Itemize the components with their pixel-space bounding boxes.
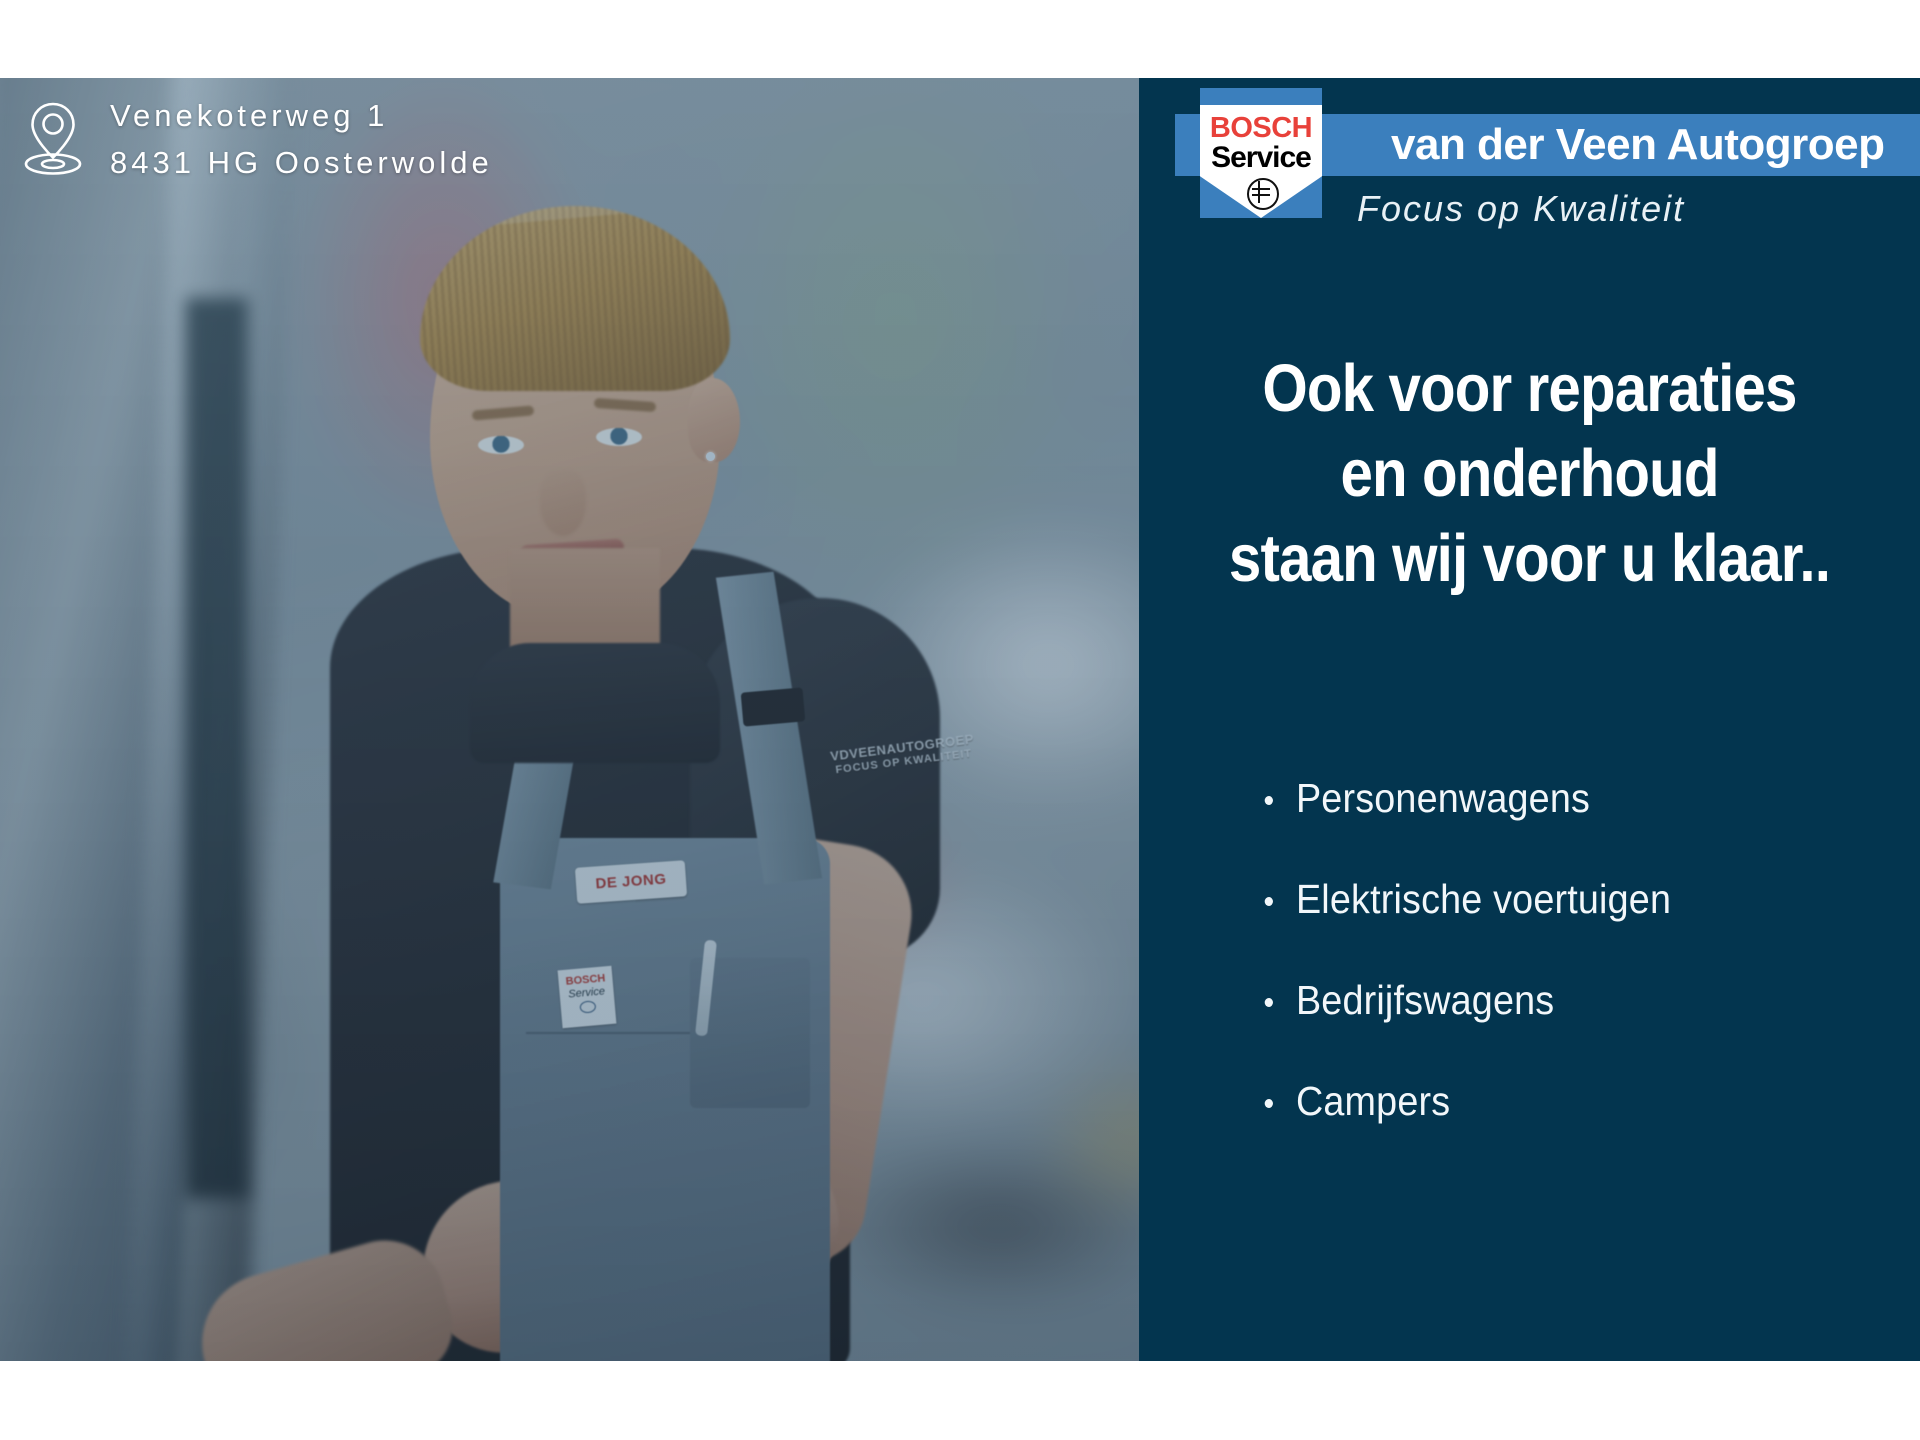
list-item: Bedrijfswagens xyxy=(1261,980,1868,1021)
headline-line-2: en onderhoud xyxy=(1190,431,1869,516)
headline-line-1: Ook voor reparaties xyxy=(1190,346,1869,431)
headline: Ook voor reparaties en onderhoud staan w… xyxy=(1190,346,1869,601)
location-pin-icon xyxy=(22,100,84,178)
address-line-1: Venekoterweg 1 xyxy=(110,92,493,139)
address-overlay: Venekoterweg 1 8431 HG Oosterwolde xyxy=(22,92,493,186)
bosch-service-logo: BOSCH Service xyxy=(1200,88,1322,218)
workshop-photo: VDVEENAUTOGROEP FOCUS OP KWALITEIT DE JO… xyxy=(0,78,1139,1361)
headline-line-3: staan wij voor u klaar.. xyxy=(1190,516,1869,601)
advertisement-root: VDVEENAUTOGROEP FOCUS OP KWALITEIT DE JO… xyxy=(0,0,1920,1440)
info-panel: BOSCH Service van der Veen Autogroep Foc… xyxy=(1139,78,1920,1361)
brand-header: BOSCH Service van der Veen Autogroep Foc… xyxy=(1139,78,1920,238)
services-list: Personenwagens Elektrische voertuigen Be… xyxy=(1261,778,1920,1182)
company-tagline: Focus op Kwaliteit xyxy=(1357,188,1685,230)
address-line-2: 8431 HG Oosterwolde xyxy=(110,139,493,186)
company-name: van der Veen Autogroep xyxy=(1391,118,1884,172)
bosch-logo-wordmark-top: BOSCH xyxy=(1200,114,1322,143)
address-text: Venekoterweg 1 8431 HG Oosterwolde xyxy=(110,92,493,186)
bosch-armature-icon xyxy=(1247,178,1279,210)
ad-content-band: VDVEENAUTOGROEP FOCUS OP KWALITEIT DE JO… xyxy=(0,78,1920,1361)
list-item: Campers xyxy=(1261,1081,1868,1122)
list-item: Personenwagens xyxy=(1261,778,1868,819)
photo-haze-overlay xyxy=(0,78,1139,1361)
bosch-armature-bar xyxy=(1258,181,1260,203)
list-item: Elektrische voertuigen xyxy=(1261,879,1868,920)
bosch-logo-wordmark-bottom: Service xyxy=(1200,143,1322,173)
